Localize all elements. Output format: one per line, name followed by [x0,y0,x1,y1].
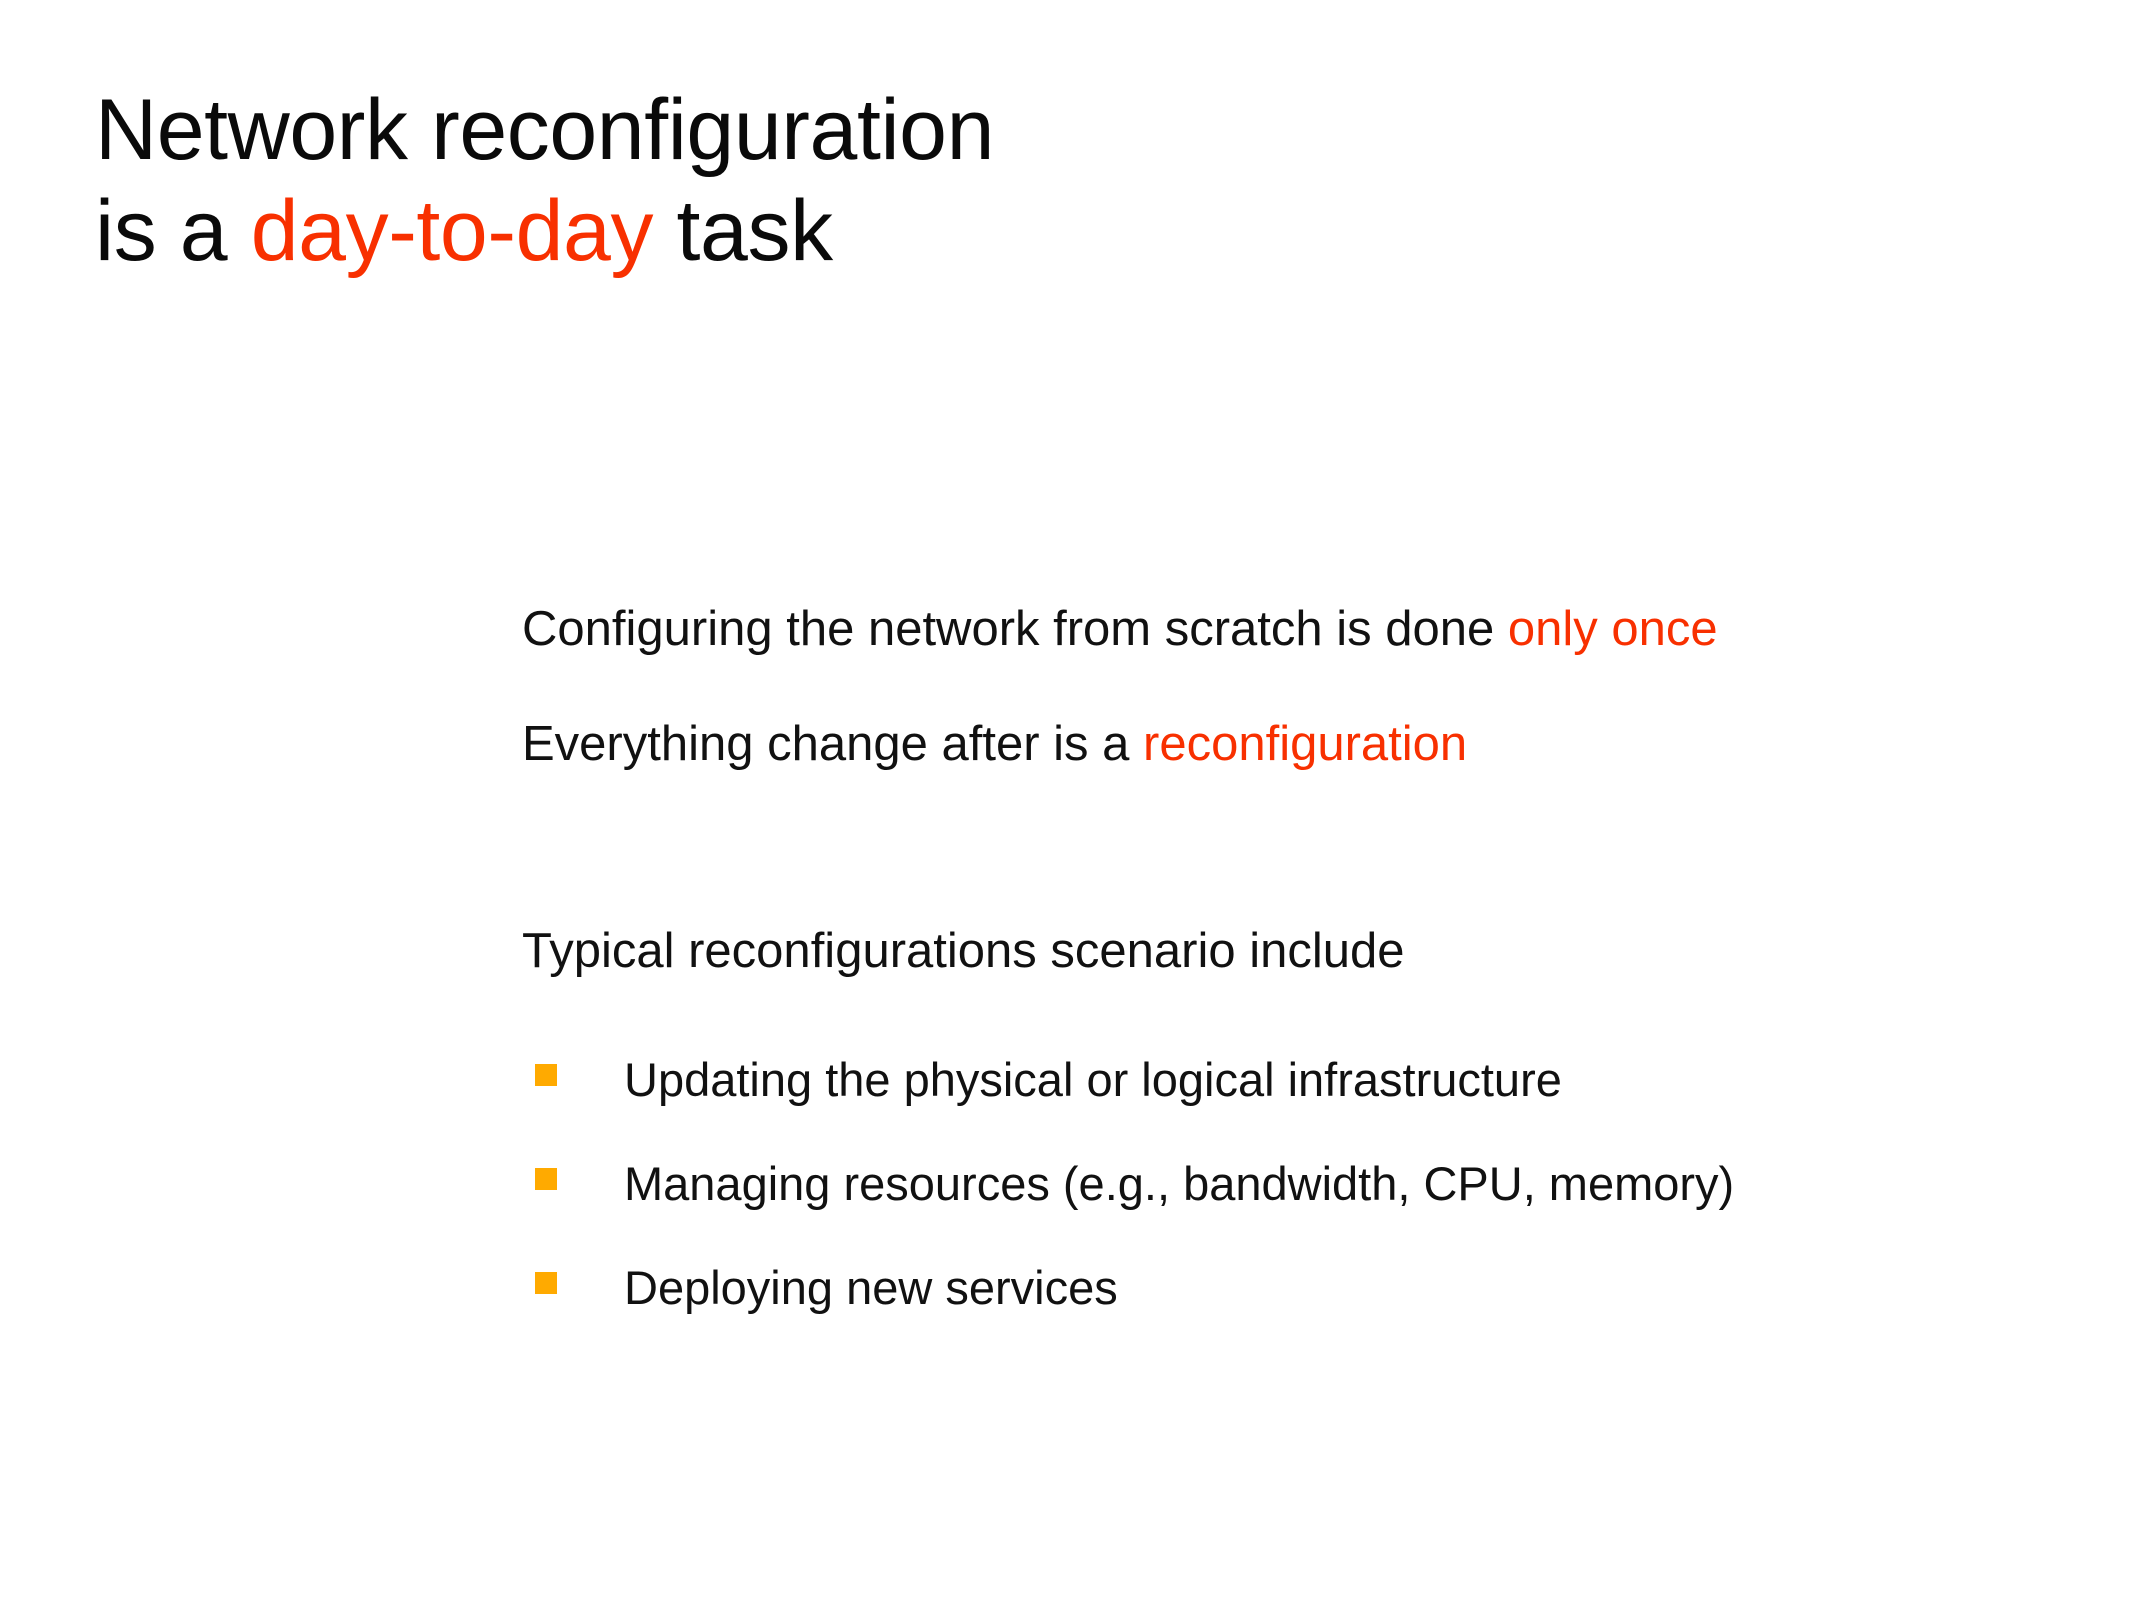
square-bullet-icon [535,1064,557,1086]
title-accent-phrase: day-to-day [251,183,653,279]
square-bullet-icon [535,1272,557,1294]
slide-canvas: Network reconfiguration is a day-to-day … [0,0,2134,1600]
list-item-label: Managing resources (e.g., bandwidth, CPU… [624,1158,1734,1210]
title-line-2-suffix: task [653,183,833,279]
title-line-1-text: Network reconfiguration [95,82,994,178]
statement-one-prefix: Configuring the network from scratch is … [522,602,1508,656]
slide-body: Configuring the network from scratch is … [522,600,2082,1313]
list-item: Managing resources (e.g., bandwidth, CPU… [522,1158,2082,1210]
list-item-label: Updating the physical or logical infrast… [624,1054,1562,1106]
scenario-bullet-list: Updating the physical or logical infrast… [522,1054,2082,1313]
title-line-2-prefix: is a [95,183,251,279]
list-item: Deploying new services [522,1262,2082,1314]
statement-two-accent: reconfiguration [1143,717,1467,771]
title-line-1: Network reconfiguration [95,80,1795,181]
statement-two-prefix: Everything change after is a [522,717,1143,771]
title-line-2: is a day-to-day task [95,181,1795,282]
statement-two: Everything change after is a reconfigura… [522,715,2082,774]
slide-title: Network reconfiguration is a day-to-day … [95,80,1795,283]
list-item: Updating the physical or logical infrast… [522,1054,2082,1106]
statement-one: Configuring the network from scratch is … [522,600,2082,659]
square-bullet-icon [535,1168,557,1190]
section-lead-text: Typical reconfigurations scenario includ… [522,922,2082,981]
list-item-label: Deploying new services [624,1262,1118,1314]
statement-one-accent: only once [1508,602,1718,656]
